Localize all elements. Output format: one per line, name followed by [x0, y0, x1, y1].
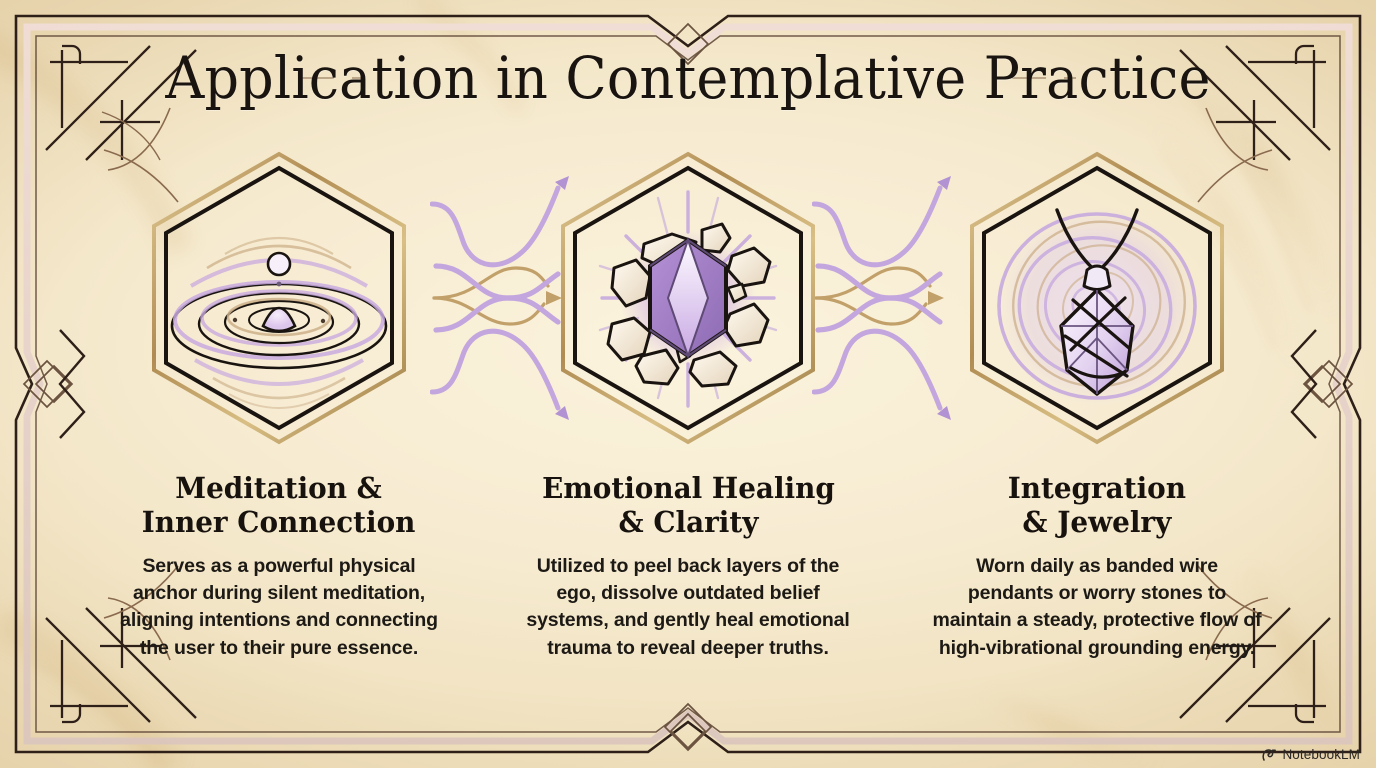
card-title-integration: Integration & Jewelry [1008, 472, 1186, 539]
card-body-integration: Worn daily as banded wire pendants or wo… [932, 553, 1262, 661]
hex-icon-meditation [129, 148, 429, 448]
card-emotional-healing: Emotional Healing & Clarity Utilized to … [497, 148, 879, 728]
pendant-bail [1084, 266, 1110, 290]
slide-canvas: Application in Contemplative Practice [0, 0, 1376, 768]
card-title-emotional-healing: Emotional Healing & Clarity [542, 472, 835, 539]
card-title-line2: Inner Connection [142, 506, 416, 540]
hex-icon-integration [947, 148, 1247, 448]
card-integration: Integration & Jewelry Worn daily as band… [906, 148, 1288, 728]
card-title-line2: & Jewelry [1008, 506, 1186, 540]
card-title-line1: Meditation & [142, 472, 416, 506]
card-title-line2: & Clarity [542, 506, 835, 540]
central-amethyst [650, 240, 726, 356]
card-body-meditation: Serves as a powerful physical anchor dur… [114, 553, 444, 661]
notebooklm-label: NotebookLM [1282, 747, 1360, 762]
card-row: Meditation & Inner Connection Serves as … [88, 148, 1288, 728]
card-title-line1: Emotional Healing [542, 472, 835, 506]
card-title-line1: Integration [1008, 472, 1186, 506]
notebooklm-watermark: NotebookLM [1261, 747, 1360, 762]
notebooklm-spiral-icon [1261, 748, 1277, 762]
water-droplet [268, 253, 290, 275]
card-body-emotional-healing: Utilized to peel back layers of the ego,… [523, 553, 853, 661]
hex-icon-emotional-healing [538, 148, 838, 448]
page-title: Application in Contemplative Practice [48, 48, 1328, 108]
card-title-meditation: Meditation & Inner Connection [142, 472, 416, 539]
splash-cone [263, 308, 295, 331]
page-title-container: Application in Contemplative Practice [0, 48, 1376, 108]
card-meditation: Meditation & Inner Connection Serves as … [88, 148, 470, 728]
